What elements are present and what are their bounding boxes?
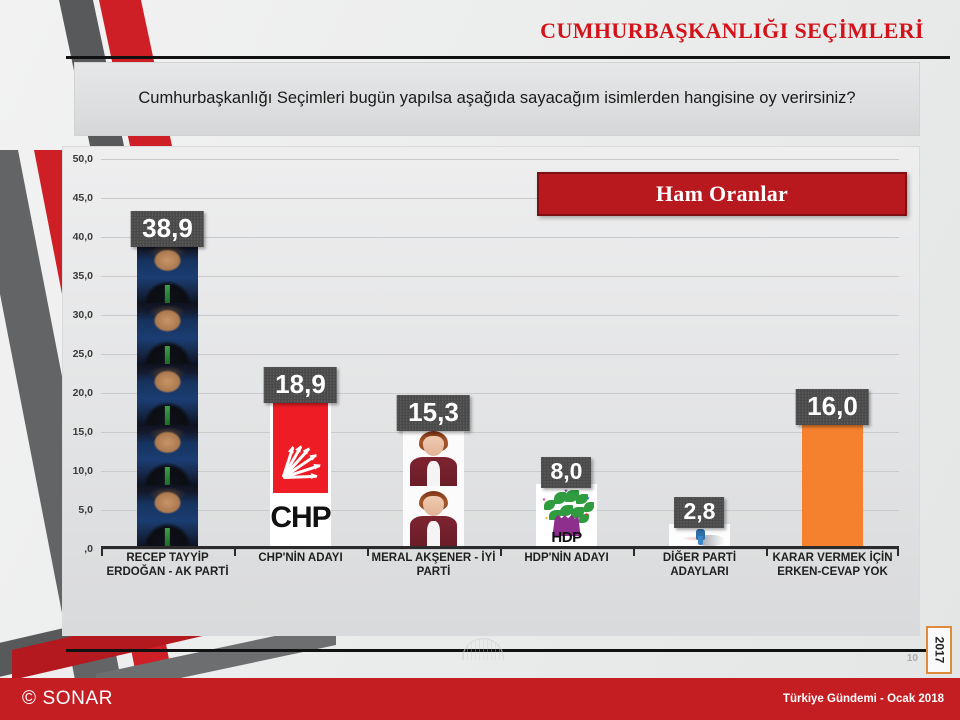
portrait-tile	[403, 427, 464, 487]
y-axis-tick-label: 10,0	[73, 465, 93, 477]
x-axis-category-label: HDP'NİN ADAYI	[500, 551, 633, 615]
x-axis-category-label: MERAL AKŞENER - İYİ PARTİ	[367, 551, 500, 615]
y-axis-tick-label: 30,0	[73, 309, 93, 321]
gridline	[101, 159, 899, 160]
portrait-face-shape	[423, 496, 444, 516]
hdp-leaf-icon	[584, 502, 594, 511]
chart-bar-value-label: 8,0	[541, 457, 591, 488]
portrait-tile	[137, 425, 198, 486]
legend-badge-label: Ham Oranlar	[656, 181, 788, 207]
chart-bar-value-label: 2,8	[674, 497, 724, 528]
copyright-label: © SONAR	[22, 688, 113, 710]
portrait-tile	[137, 485, 198, 546]
chart-bar-fill	[802, 421, 863, 546]
x-axis-category-label: RECEP TAYYİP ERDOĞAN - AK PARTİ	[101, 551, 234, 615]
question-text: Cumhurbaşkanlığı Seçimleri bugün yapılsa…	[138, 87, 855, 110]
footer-divider	[66, 649, 946, 652]
hdp-wordmark-text: HDP	[536, 529, 597, 546]
chart-plot-area: 50,045,040,035,030,025,020,015,010,05,0,…	[101, 159, 899, 549]
bar-logo-hdp: HDP	[536, 484, 597, 546]
gridline	[101, 276, 899, 277]
y-axis-tick-label: 5,0	[78, 504, 93, 516]
footer-note: Türkiye Gündemi - Ocak 2018	[783, 693, 944, 705]
year-tab: 2017	[926, 626, 952, 674]
chart-bar-fill: HDP	[536, 484, 597, 546]
slide: CUMHURBAŞKANLIĞI SEÇİMLERİ Cumhurbaşkanl…	[0, 0, 960, 720]
year-tab-label: 2017	[932, 637, 946, 664]
page-title: CUMHURBAŞKANLIĞI SEÇİMLERİ	[540, 18, 924, 44]
bar-photo-aksener	[403, 427, 464, 546]
watermark-seal-icon	[462, 638, 504, 660]
chart-bar[interactable]: 2,8	[669, 524, 730, 546]
chp-wordmark-text: CHP	[270, 501, 330, 535]
portrait-shirt-shape	[427, 461, 440, 486]
portrait-shirt-shape	[427, 521, 440, 546]
question-box: Cumhurbaşkanlığı Seçimleri bugün yapılsa…	[74, 62, 920, 136]
chart-bar[interactable]: 15,3	[403, 427, 464, 546]
chp-arrows-icon	[273, 402, 328, 493]
portrait-tile	[403, 486, 464, 546]
chp-wordmark: CHP	[273, 493, 328, 543]
y-axis-tick-label: 45,0	[73, 192, 93, 204]
legend-badge: Ham Oranlar	[537, 172, 907, 216]
footer-bar: © SONAR Türkiye Gündemi - Ocak 2018	[0, 678, 960, 720]
chart-bar-fill	[137, 243, 198, 546]
chart-panel: 50,045,040,035,030,025,020,015,010,05,0,…	[62, 146, 920, 636]
y-axis-tick-label: 40,0	[73, 231, 93, 243]
chart-bar-value-label: 18,9	[264, 367, 337, 403]
x-axis-category-label: KARAR VERMEK İÇİN ERKEN-CEVAP YOK	[766, 551, 899, 615]
gridline	[101, 471, 899, 472]
chart-bar[interactable]: 16,0	[802, 421, 863, 546]
bar-logo-chp: CHP	[270, 399, 331, 546]
chart-bar-fill: CHP	[270, 399, 331, 546]
header-divider	[66, 56, 950, 59]
page-number: 10	[907, 653, 918, 664]
bar-solid-orange	[802, 421, 863, 546]
pin-body-icon	[698, 536, 703, 545]
y-axis-tick-label: 15,0	[73, 426, 93, 438]
slide-header: CUMHURBAŞKANLIĞI SEÇİMLERİ	[64, 0, 960, 58]
y-axis-tick-label: 20,0	[73, 387, 93, 399]
chart-bar-value-label: 15,3	[397, 395, 470, 431]
chart-category-labels: RECEP TAYYİP ERDOĞAN - AK PARTİCHP'NİN A…	[101, 551, 899, 615]
gridline	[101, 393, 899, 394]
x-axis-category-label: DİĞER PARTİ ADAYLARI	[633, 551, 766, 615]
portrait-tile	[137, 303, 198, 364]
chart-bar[interactable]: CHP18,9	[270, 399, 331, 546]
chart-bar-value-label: 38,9	[131, 211, 204, 247]
chart-bar-fill	[403, 427, 464, 546]
chp-arrow	[283, 475, 317, 479]
hdp-star-icon	[544, 516, 548, 520]
portrait-tile	[137, 364, 198, 425]
y-axis-tick-label: 35,0	[73, 270, 93, 282]
chart-bar[interactable]: HDP8,0	[536, 484, 597, 546]
gridline	[101, 237, 899, 238]
chart-bar[interactable]: 38,9	[137, 243, 198, 546]
portrait-tile	[137, 243, 198, 304]
y-axis-tick-label: 25,0	[73, 348, 93, 360]
x-axis-category-label: CHP'NİN ADAYI	[234, 551, 367, 615]
y-axis-tick-label: 50,0	[73, 153, 93, 165]
chart-bar-value-label: 16,0	[796, 389, 869, 425]
bar-photo-erdogan	[137, 243, 198, 546]
gridline	[101, 432, 899, 433]
gridline	[101, 354, 899, 355]
gridline	[101, 315, 899, 316]
y-axis-tick-label: ,0	[84, 543, 93, 555]
gridline	[101, 510, 899, 511]
portrait-face-shape	[423, 436, 444, 456]
